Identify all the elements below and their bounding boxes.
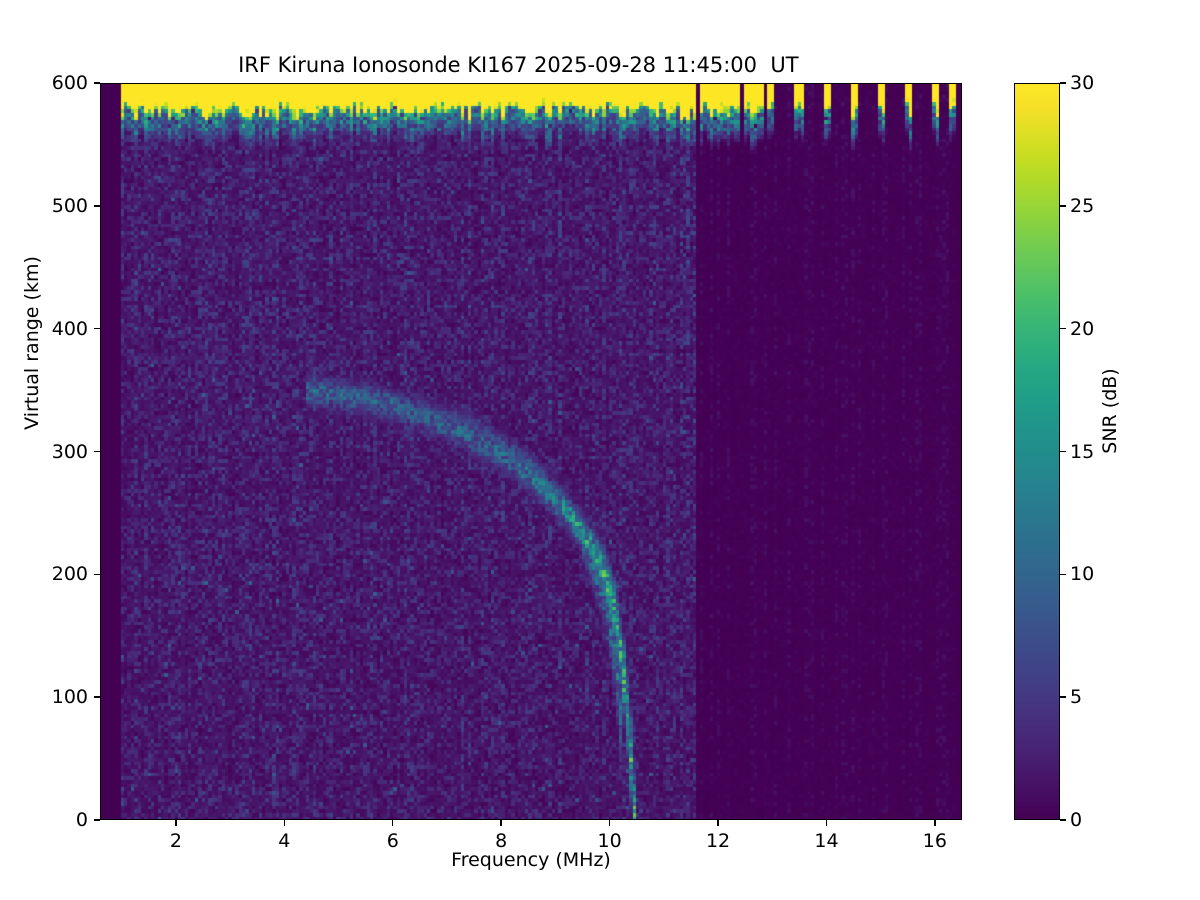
colorbar-tick-label: 25 — [1070, 195, 1094, 217]
colorbar-tick-label: 0 — [1070, 809, 1082, 831]
colorbar-tick-label: 15 — [1070, 441, 1094, 463]
colorbar-tick-mark — [1060, 574, 1066, 575]
colorbar-tick-mark — [1060, 82, 1066, 83]
colorbar-tick-mark — [1060, 451, 1066, 452]
colorbar-tick-label: 5 — [1070, 686, 1082, 708]
colorbar-tick-mark — [1060, 819, 1066, 820]
colorbar-tick-label: 10 — [1070, 563, 1094, 585]
colorbar-tick-mark — [1060, 205, 1066, 206]
colorbar-ticks: 051015202530 — [0, 0, 1200, 900]
colorbar-tick-label: 20 — [1070, 318, 1094, 340]
ionogram-figure: IRF Kiruna Ionosonde KI167 2025-09-28 11… — [0, 0, 1200, 900]
colorbar-tick-label: 30 — [1070, 72, 1094, 94]
colorbar-tick-mark — [1060, 696, 1066, 697]
colorbar-label: SNR (dB) — [1099, 301, 1121, 521]
colorbar-tick-mark — [1060, 328, 1066, 329]
